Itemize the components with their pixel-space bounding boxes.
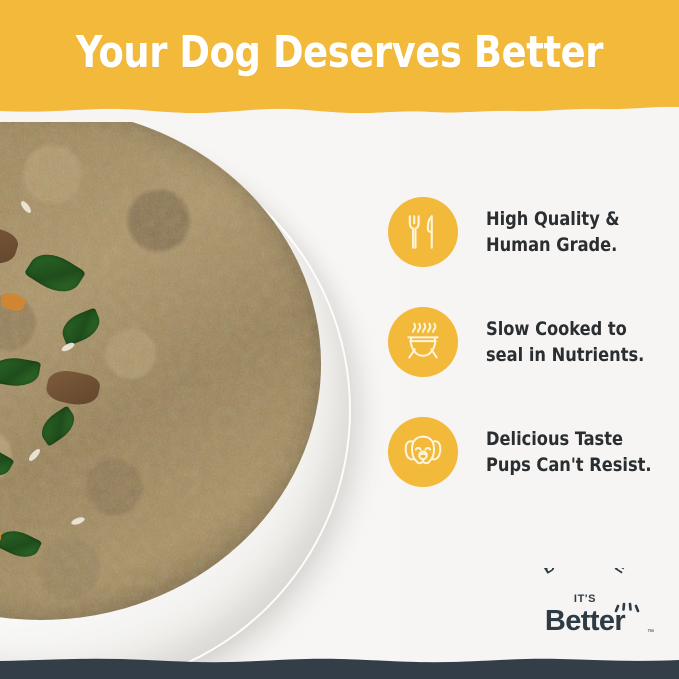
footer-torn-edge [0,659,679,679]
grill-icon-badge [388,307,458,377]
brand-logo-mark: BECAUSE IT'S Better ™ [505,568,665,640]
feature-item-taste: Delicious Taste Pups Can't Resist. [388,416,668,488]
dog-face-icon-badge [388,417,458,487]
page-title: Your Dog Deserves Better [24,0,655,104]
logo-its-text: IT'S [574,593,596,605]
logo-trademark: ™ [647,629,654,636]
dog-face-icon [400,429,446,475]
logo-main-text: Better [545,605,626,637]
brand-logo[interactable]: BECAUSE IT'S Better ™ [505,568,665,640]
grill-steam-icon [401,320,445,364]
fork-knife-icon [402,211,444,253]
feature-label-slow-cooked: Slow Cooked to seal in Nutrients. [486,316,644,368]
feature-item-slow-cooked: Slow Cooked to seal in Nutrients. [388,306,668,378]
footer-bar [0,653,679,679]
ad-canvas: Your Dog Deserves Better High Qualit [0,0,679,679]
food-contents [0,108,321,620]
food-texture [0,108,321,620]
logo-arch-text: BECAUSE [540,568,630,578]
fork-knife-icon-badge [388,197,458,267]
feature-label-quality: High Quality & Human Grade. [486,206,620,258]
feature-item-quality: High Quality & Human Grade. [388,196,668,268]
feature-list: High Quality & Human Grade. [388,196,668,526]
dog-food-bowl-photo [0,108,400,679]
feature-label-taste: Delicious Taste Pups Can't Resist. [486,426,652,478]
